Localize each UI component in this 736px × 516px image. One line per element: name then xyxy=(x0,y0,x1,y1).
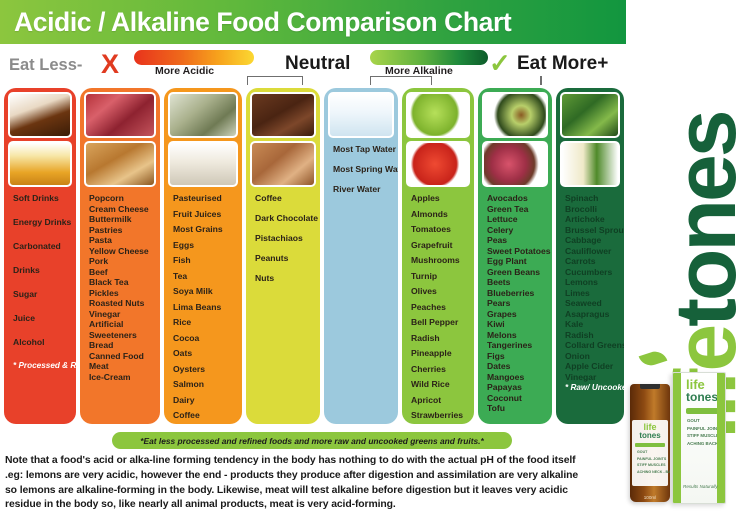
food-item: Tea xyxy=(173,272,234,281)
bottle-brand-tones: tones xyxy=(634,432,666,441)
food-item: Apples xyxy=(411,194,466,203)
box-footer-text: Results Naturally xyxy=(683,484,718,489)
food-item: Vinegar xyxy=(565,373,616,382)
food-item-list: AvocadosGreen TeaLettuceCeleryPeasSweet … xyxy=(482,190,548,413)
bracket-connector-neutral xyxy=(247,76,303,85)
infographic-root: Acidic / Alkaline Food Comparison Chart … xyxy=(0,0,736,516)
food-item: Pineapple xyxy=(411,349,466,358)
food-item: Melons xyxy=(487,331,544,340)
food-column-mildly-alkaline-fruits: ApplesAlmondsTomatoesGrapefruitMushrooms… xyxy=(402,88,474,424)
cross-icon: X xyxy=(101,49,119,80)
food-item: Alcohol xyxy=(13,338,68,347)
food-item: Cucumbers xyxy=(565,268,616,277)
column-note: * Processed & Refined Food xyxy=(13,362,68,371)
legend-eat-more-label: Eat More+ xyxy=(517,53,608,75)
page-title: Acidic / Alkaline Food Comparison Chart xyxy=(0,7,511,38)
note-line: .eg: lemons are very acidic, however the… xyxy=(5,469,621,484)
food-item: Bell Pepper xyxy=(411,318,466,327)
food-item: Spinach xyxy=(565,194,616,203)
food-item: Peaches xyxy=(411,303,466,312)
food-item: Yellow Cheese xyxy=(89,247,152,256)
food-item: Eggs xyxy=(173,241,234,250)
bottle-label: life tones GOUT PAINFUL JOINTS STIFF MUS… xyxy=(632,420,668,486)
food-item: Cherries xyxy=(411,365,466,374)
note-line: Note that a food's acid or alka-line for… xyxy=(5,454,621,469)
food-item: River Water xyxy=(333,185,390,194)
food-item: Oysters xyxy=(173,365,234,374)
green-apple-photo xyxy=(406,92,470,138)
food-columns: Soft DrinksEnergy DrinksCarbonatedDrinks… xyxy=(4,88,624,424)
box-stripe-right xyxy=(717,373,725,503)
food-item-list: PopcornCream CheeseButtermilkPastriesPas… xyxy=(84,190,156,382)
oysters-photo xyxy=(168,92,238,138)
food-item: Cream Cheese xyxy=(89,205,152,214)
food-item: Meat xyxy=(89,362,152,371)
alkaline-gradient-bar xyxy=(370,50,488,65)
food-item: Artichoke xyxy=(565,215,616,224)
food-item: Pork xyxy=(89,257,152,266)
food-item-list: CoffeeDark ChocolatePistachiaosPeanutsNu… xyxy=(250,190,316,283)
food-column-most-alkaline-greens: SpinachBrocolliArtichokeBrussel SproutsC… xyxy=(556,88,624,424)
food-item: Coffee xyxy=(255,194,312,203)
beer-glass-photo xyxy=(8,141,72,187)
box-claim: STIFF MUSCLES xyxy=(687,432,721,439)
food-item: Grapes xyxy=(487,310,544,319)
food-item: Kale xyxy=(565,320,616,329)
explanatory-note: Note that a food's acid or alka-line for… xyxy=(5,454,621,513)
food-item: Bread xyxy=(89,341,152,350)
bottle-claim: ACHING NECK - BACK xyxy=(634,469,666,476)
raw-meat-photo xyxy=(84,92,156,138)
food-item: Pickles xyxy=(89,289,152,298)
food-item: Figs xyxy=(487,352,544,361)
tap-water-glass-photo xyxy=(328,92,394,138)
food-item: Coconut xyxy=(487,394,544,403)
food-item: Sweeteners xyxy=(89,331,152,340)
title-bar: Acidic / Alkaline Food Comparison Chart xyxy=(0,0,626,44)
food-item: Most Grains xyxy=(173,225,234,234)
food-column-more-alkaline: AvocadosGreen TeaLettuceCeleryPeasSweet … xyxy=(478,88,552,424)
food-item: Turnip xyxy=(411,272,466,281)
food-item: Papayas xyxy=(487,383,544,392)
food-item: Most Spring Water xyxy=(333,165,390,174)
column-note: * Raw/ Uncooked xyxy=(565,384,616,393)
food-item: Wild Rice xyxy=(411,380,466,389)
food-item: Mangoes xyxy=(487,373,544,382)
food-item: Carbonated xyxy=(13,242,68,251)
food-item: Kiwi xyxy=(487,320,544,329)
food-item: Dairy xyxy=(173,396,234,405)
food-item: Peanuts xyxy=(255,254,312,263)
food-item: Most Tap Water xyxy=(333,145,390,154)
food-column-mildly-acidic: CoffeeDark ChocolatePistachiaosPeanutsNu… xyxy=(246,88,320,424)
spinach-photo xyxy=(560,92,620,138)
food-item: Pears xyxy=(487,299,544,308)
food-item: Radish xyxy=(565,331,616,340)
food-item: Beets xyxy=(487,278,544,287)
food-item: Egg Plant xyxy=(487,257,544,266)
food-item: Cabbage xyxy=(565,236,616,245)
bottle-cap xyxy=(640,384,660,389)
acid-gradient-bar xyxy=(134,50,254,65)
food-item-list: SpinachBrocolliArtichokeBrussel SproutsC… xyxy=(560,190,620,392)
food-item: Artificial xyxy=(89,320,152,329)
food-item: Popcorn xyxy=(89,194,152,203)
brand-word-tones: tones xyxy=(658,112,736,326)
legend-row: Eat Less- X More Acidic Neutral More Alk… xyxy=(0,46,626,86)
food-item: Buttermilk xyxy=(89,215,152,224)
bottle-volume: 100ml xyxy=(630,495,670,500)
food-item: Onion xyxy=(565,352,616,361)
food-item: Sweet Potatoes xyxy=(487,247,544,256)
dark-chocolate-photo xyxy=(250,92,316,138)
note-line: so lemons are alkaline-forming in the bo… xyxy=(5,484,621,499)
food-column-neutral-water: Most Tap WaterMost Spring WaterRiver Wat… xyxy=(324,88,398,424)
bottle-claim: GOUT xyxy=(634,449,666,456)
food-item: Blueberries xyxy=(487,289,544,298)
food-item: Tomatoes xyxy=(411,225,466,234)
food-item: Cauliflower xyxy=(565,247,616,256)
food-item: Oats xyxy=(173,349,234,358)
bottle-claim: PAINFUL JOINTS xyxy=(634,456,666,463)
food-item: Rice xyxy=(173,318,234,327)
food-item: Roasted Nuts xyxy=(89,299,152,308)
food-item: Collard Greens xyxy=(565,341,616,350)
advice-pill-text: *Eat less processed and refined foods an… xyxy=(140,436,483,446)
food-item: Pistachiaos xyxy=(255,234,312,243)
food-item: Lemons xyxy=(565,278,616,287)
food-item: Asapragus xyxy=(565,310,616,319)
bottle-banner xyxy=(635,443,665,447)
legend-eat-less-label: Eat Less- xyxy=(9,56,82,75)
food-item: Grapefruit xyxy=(411,241,466,250)
food-item: Limes xyxy=(565,289,616,298)
box-claim: PAINFUL JOINTS xyxy=(687,425,721,432)
box-claim: ACHING BACK - NECK xyxy=(687,440,721,447)
food-item: Sugar xyxy=(13,290,68,299)
food-item: Green Beans xyxy=(487,268,544,277)
food-item: Soft Drinks xyxy=(13,194,68,203)
food-item: Strawberries xyxy=(411,411,466,420)
product-box-image: life tones GOUT PAINFUL JOINTS STIFF MUS… xyxy=(672,372,726,504)
pastries-photo xyxy=(84,141,156,187)
tomato-photo xyxy=(406,141,470,187)
food-item: Black Tea xyxy=(89,278,152,287)
check-icon: ✓ xyxy=(489,48,511,79)
advice-pill: *Eat less processed and refined foods an… xyxy=(112,432,512,449)
food-column-acidic-grains-fish: PasteurisedFruit JuicesMost GrainsEggsFi… xyxy=(164,88,242,424)
food-item-list: Soft DrinksEnergy DrinksCarbonatedDrinks… xyxy=(8,190,72,371)
food-item: Fish xyxy=(173,256,234,265)
product-bottle-image: life tones GOUT PAINFUL JOINTS STIFF MUS… xyxy=(630,384,670,502)
food-item: Celery xyxy=(487,226,544,235)
food-item: Peas xyxy=(487,236,544,245)
cola-glass-photo xyxy=(8,92,72,138)
food-item: Vinegar xyxy=(89,310,152,319)
bottle-claim: STIFF MUSCLES xyxy=(634,462,666,469)
food-column-most-acidic-drinks: Soft DrinksEnergy DrinksCarbonatedDrinks… xyxy=(4,88,76,424)
food-item: Mushrooms xyxy=(411,256,466,265)
food-item: Juice xyxy=(13,314,68,323)
food-item: Brussel Sprouts xyxy=(565,226,616,235)
food-item: Carrots xyxy=(565,257,616,266)
food-item-list: ApplesAlmondsTomatoesGrapefruitMushrooms… xyxy=(406,190,470,424)
bracket-connector-eatmore xyxy=(540,76,542,85)
box-brand-tones: tones xyxy=(686,391,721,404)
food-item: Drinks xyxy=(13,266,68,275)
food-item: Beef xyxy=(89,268,152,277)
figs-photo xyxy=(482,141,548,187)
food-item-list: Most Tap WaterMost Spring WaterRiver Wat… xyxy=(328,141,394,194)
food-item: Dark Chocolate xyxy=(255,214,312,223)
chopped-nuts-photo xyxy=(250,141,316,187)
food-item: Tangerines xyxy=(487,341,544,350)
food-item: Pasta xyxy=(89,236,152,245)
food-item: Pastries xyxy=(89,226,152,235)
food-item: Nuts xyxy=(255,274,312,283)
food-item-list: PasteurisedFruit JuicesMost GrainsEggsFi… xyxy=(168,190,238,420)
food-item: Radish xyxy=(411,334,466,343)
food-item: Fruit Juices xyxy=(173,210,234,219)
legend-more-acidic-label: More Acidic xyxy=(155,65,214,77)
rice-bowl-photo xyxy=(168,141,238,187)
food-item: Cocoa xyxy=(173,334,234,343)
food-item: Apricot xyxy=(411,396,466,405)
bracket-connector-alkaline xyxy=(370,76,432,85)
food-item: Salmon xyxy=(173,380,234,389)
food-item: Canned Food xyxy=(89,352,152,361)
food-item: Lettuce xyxy=(487,215,544,224)
food-item: Olives xyxy=(411,287,466,296)
food-item: Almonds xyxy=(411,210,466,219)
food-column-acidic-meat-dairy: PopcornCream CheeseButtermilkPastriesPas… xyxy=(80,88,160,424)
food-item: Dates xyxy=(487,362,544,371)
note-line: residue in the body so, like nearly all … xyxy=(5,498,621,513)
food-item: Lima Beans xyxy=(173,303,234,312)
food-item: Coffee xyxy=(173,411,234,420)
food-item: Apple Cider xyxy=(565,362,616,371)
food-item: Soya Milk xyxy=(173,287,234,296)
box-claim: GOUT xyxy=(687,417,721,424)
avocado-photo xyxy=(482,92,548,138)
legend-neutral-label: Neutral xyxy=(285,53,350,75)
food-item: Brocolli xyxy=(565,205,616,214)
food-item: Avocados xyxy=(487,194,544,203)
food-item: Seaweed xyxy=(565,299,616,308)
food-item: Green Tea xyxy=(487,205,544,214)
food-item: Ice-Cream xyxy=(89,373,152,382)
food-item: Pasteurised xyxy=(173,194,234,203)
cauliflower-broccoli-photo xyxy=(560,141,620,187)
food-item: Energy Drinks xyxy=(13,218,68,227)
box-stripe-left xyxy=(673,373,681,503)
food-item: Tofu xyxy=(487,404,544,413)
